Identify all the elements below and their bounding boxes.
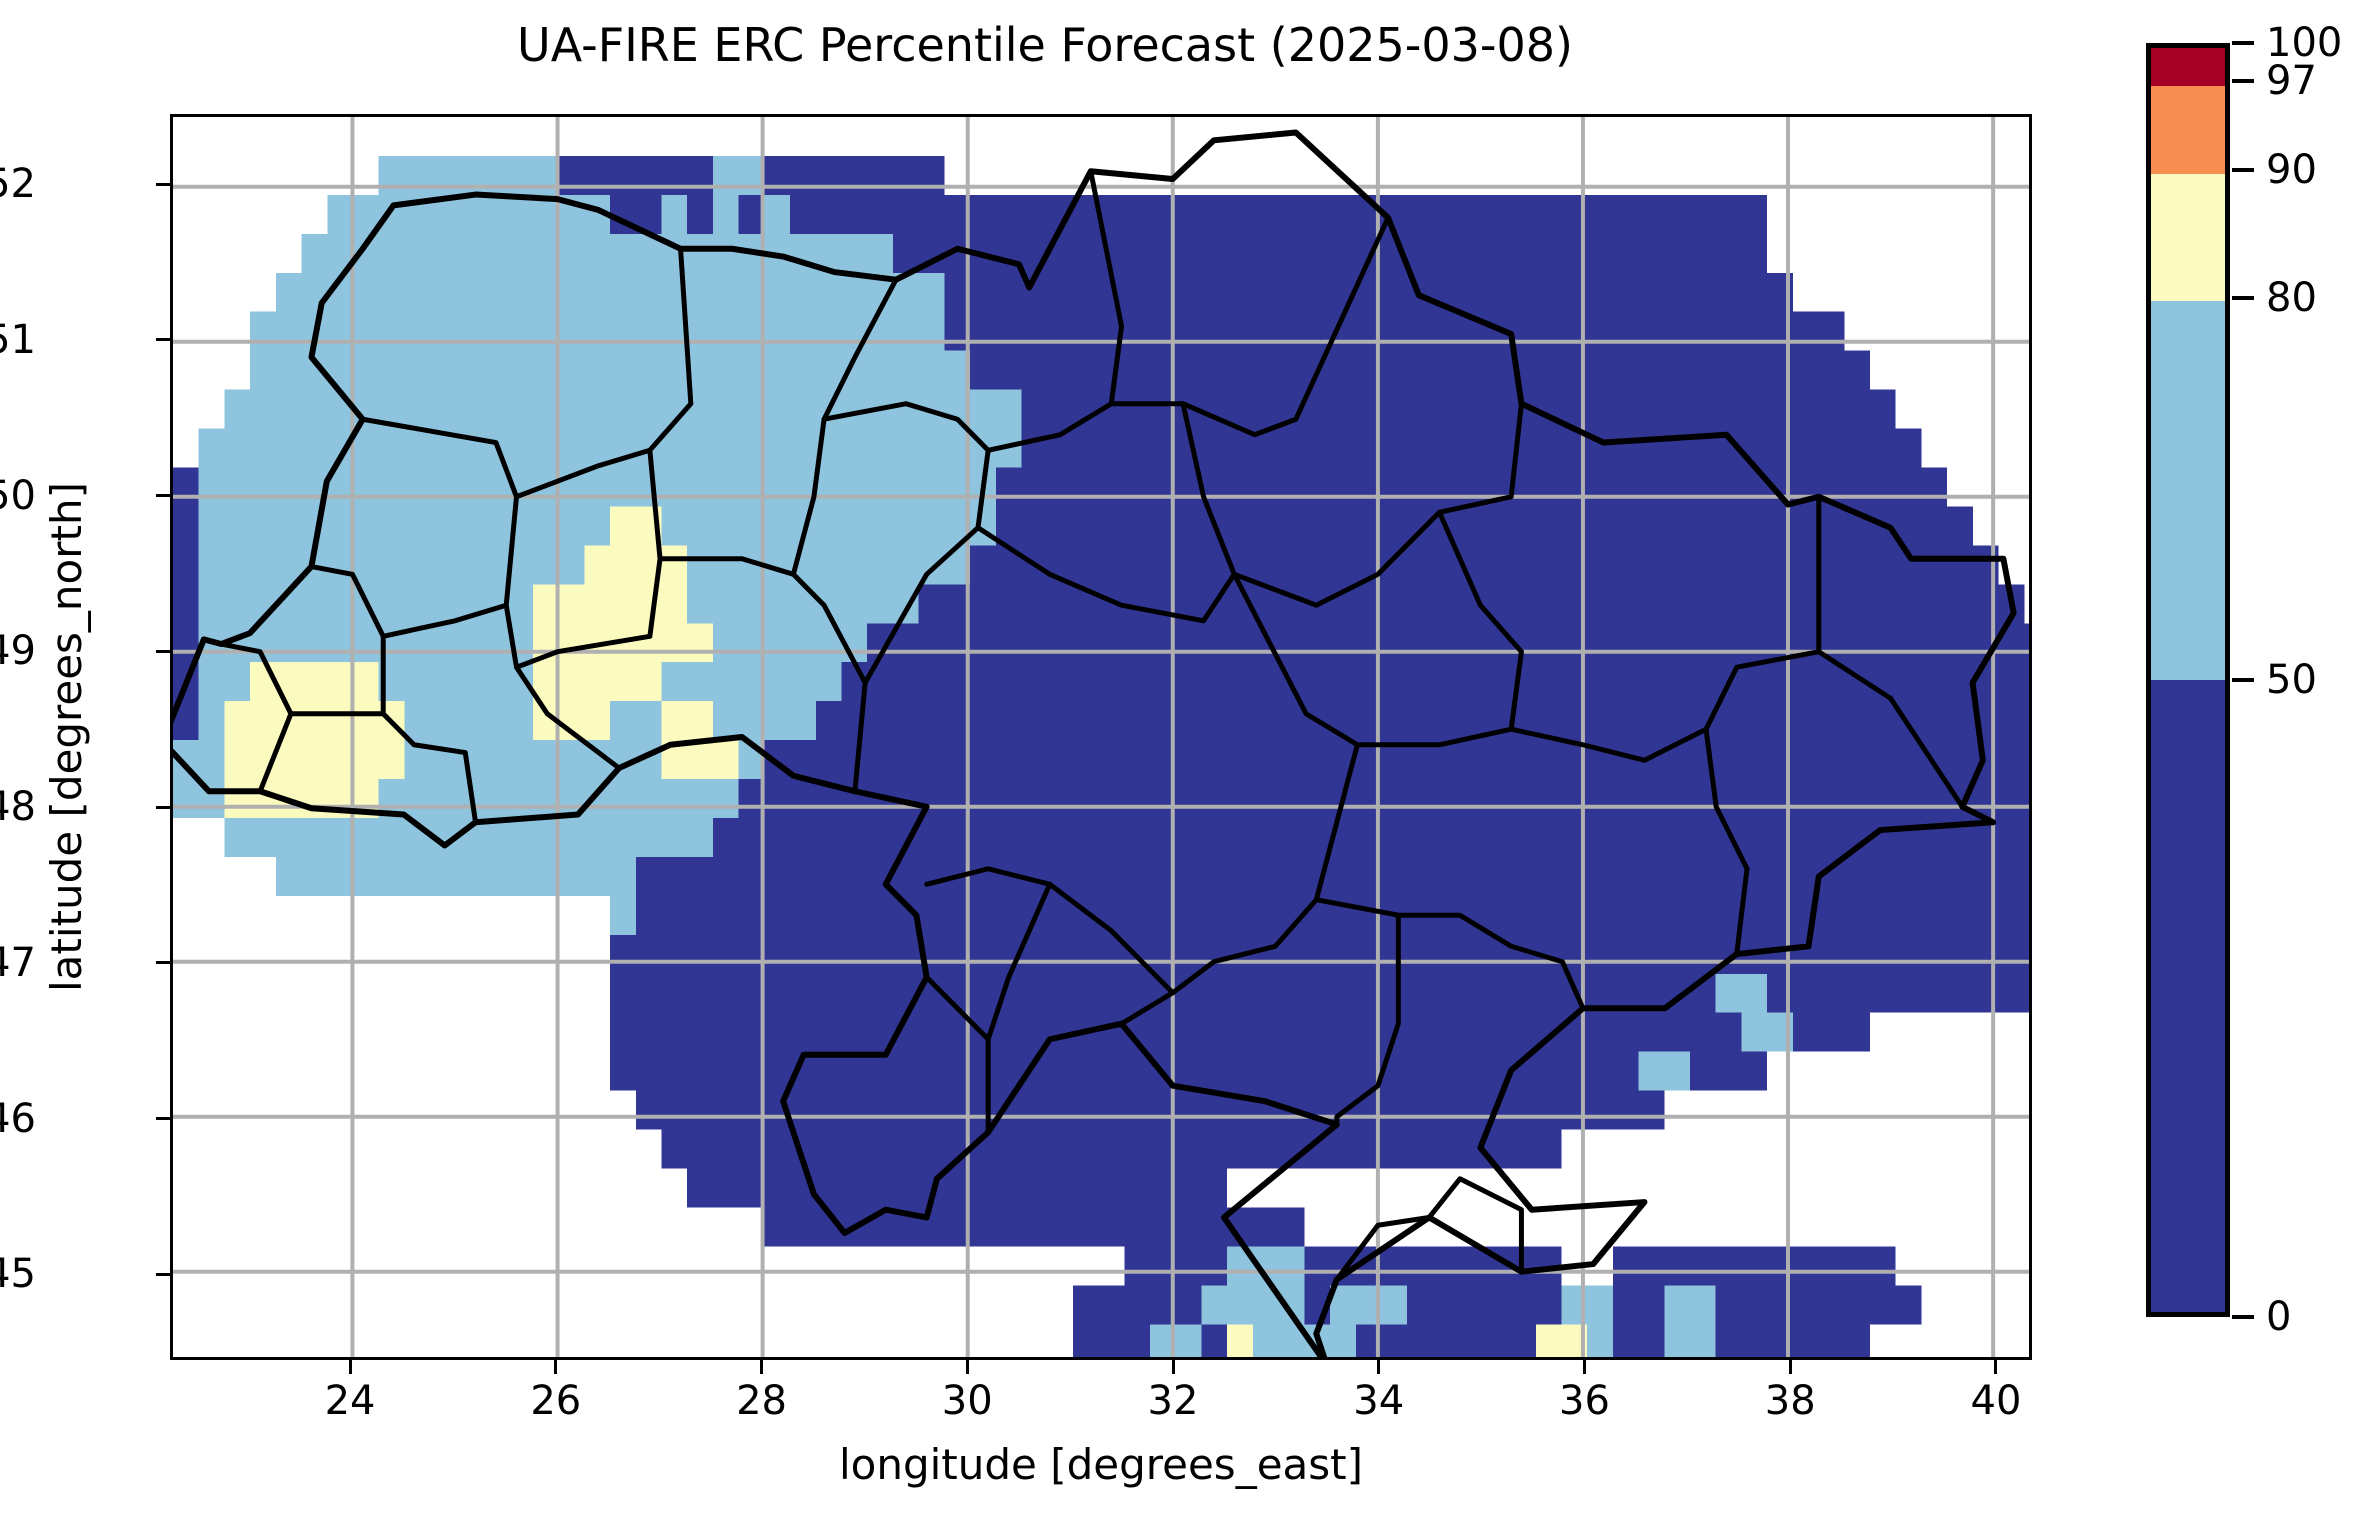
x-tick-label-28: 28	[736, 1378, 787, 1424]
map-plot-area[interactable]	[170, 114, 2032, 1360]
map-canvas-wrapper	[173, 117, 2029, 1357]
page-title: UA-FIRE ERC Percentile Forecast (2025-03…	[0, 18, 2090, 72]
colorbar-tick-label-90: 90	[2266, 147, 2317, 193]
y-tick-mark	[156, 1273, 170, 1276]
colorbar-band-0-50	[2151, 680, 2225, 1312]
x-tick-label-24: 24	[325, 1378, 376, 1424]
colorbar-tick-mark	[2232, 678, 2254, 682]
y-tick-label-45: 45	[0, 1251, 36, 1297]
colorbar[interactable]	[2146, 43, 2230, 1317]
x-tick-mark	[1994, 1360, 1997, 1374]
x-tick-mark	[1789, 1360, 1792, 1374]
y-tick-label-52: 52	[0, 161, 36, 207]
y-tick-mark	[156, 494, 170, 497]
y-tick-mark	[156, 650, 170, 653]
x-tick-label-40: 40	[1971, 1378, 2022, 1424]
colorbar-band-90-97	[2151, 86, 2225, 174]
y-tick-label-49: 49	[0, 628, 36, 674]
x-tick-mark	[760, 1360, 763, 1374]
y-tick-mark	[156, 1117, 170, 1120]
x-tick-label-32: 32	[1148, 1378, 1199, 1424]
y-tick-label-46: 46	[0, 1096, 36, 1142]
y-tick-label-51: 51	[0, 317, 36, 363]
y-tick-label-47: 47	[0, 940, 36, 986]
colorbar-tick-mark	[2232, 168, 2254, 172]
colorbar-tick-mark	[2232, 1315, 2254, 1319]
y-tick-mark	[156, 961, 170, 964]
colorbar-band-97-100	[2151, 48, 2225, 86]
colorbar-tick-mark	[2232, 79, 2254, 83]
x-tick-mark	[1172, 1360, 1175, 1374]
x-tick-label-26: 26	[530, 1378, 581, 1424]
x-tick-mark	[1377, 1360, 1380, 1374]
x-tick-mark	[349, 1360, 352, 1374]
colorbar-tick-mark	[2232, 41, 2254, 45]
colorbar-tick-mark	[2232, 296, 2254, 300]
colorbar-band-80-90	[2151, 174, 2225, 300]
y-tick-mark	[156, 338, 170, 341]
y-tick-label-48: 48	[0, 784, 36, 830]
y-tick-mark	[156, 183, 170, 186]
colorbar-tick-label-50: 50	[2266, 657, 2317, 703]
colorbar-tick-label-100: 100	[2266, 20, 2342, 66]
colorbar-band-50-80	[2151, 301, 2225, 680]
colorbar-tick-label-80: 80	[2266, 275, 2317, 321]
x-tick-label-36: 36	[1559, 1378, 1610, 1424]
x-tick-mark	[966, 1360, 969, 1374]
x-tick-label-38: 38	[1765, 1378, 1816, 1424]
erc-percentile-raster	[173, 117, 2032, 1360]
x-tick-label-30: 30	[942, 1378, 993, 1424]
y-axis-label: latitude [degrees_north]	[42, 482, 91, 992]
x-tick-label-34: 34	[1353, 1378, 1404, 1424]
x-tick-mark	[1583, 1360, 1586, 1374]
colorbar-tick-label-0: 0	[2266, 1294, 2291, 1340]
x-tick-mark	[554, 1360, 557, 1374]
x-axis-label: longitude [degrees_east]	[170, 1440, 2032, 1489]
y-tick-label-50: 50	[0, 473, 36, 519]
y-tick-mark	[156, 806, 170, 809]
